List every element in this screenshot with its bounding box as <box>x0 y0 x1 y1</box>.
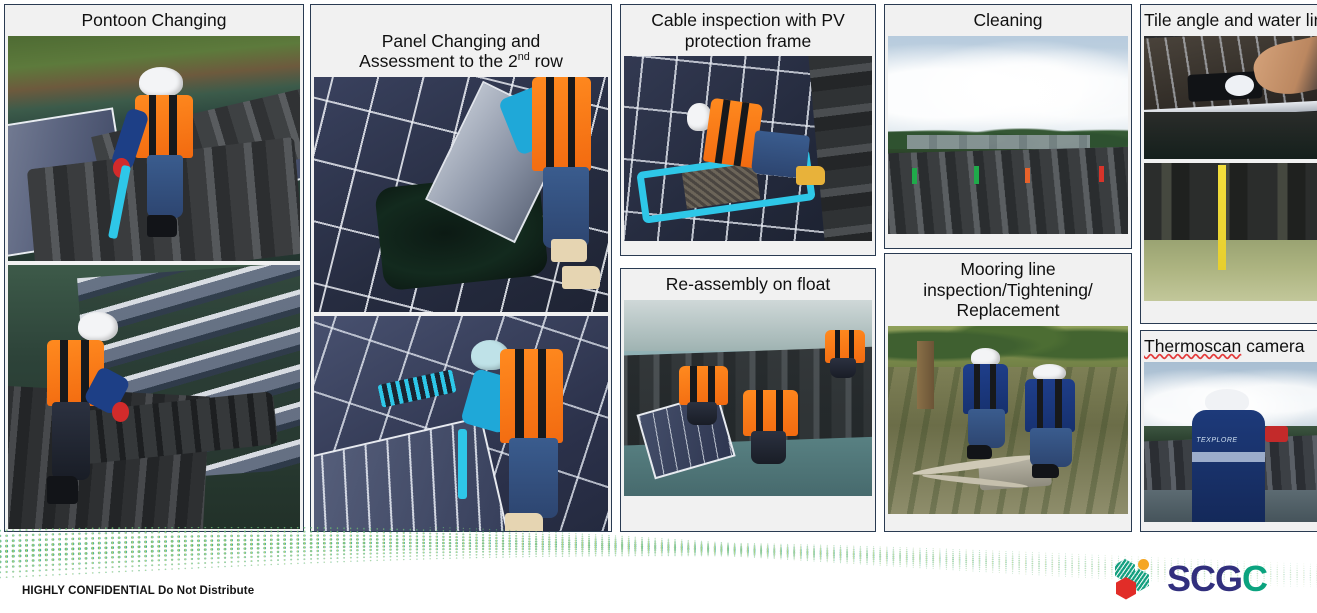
photo-pontoon-replace-float <box>8 36 300 261</box>
photo-stack-cable-inspection <box>621 56 875 245</box>
panel-title-panel-changing-post: row <box>530 51 563 71</box>
panel-title-re-assembly: Re-assembly on float <box>621 269 875 300</box>
panel-title-panel-changing: Panel Changing and Assessment to the 2nd… <box>311 5 611 77</box>
photo-panel-assessment <box>314 316 608 532</box>
panel-mooring-line[interactable]: Mooring line inspection/Tightening/ Repl… <box>884 253 1132 532</box>
photo-re-assembly-on-float <box>624 300 872 496</box>
spellchecked-word: Thermoscan <box>1144 336 1241 356</box>
panel-title-mooring-line: Mooring line inspection/Tightening/ Repl… <box>885 254 1131 326</box>
photo-pontoon-detach-float <box>8 265 300 529</box>
panel-title-panel-changing-pre: Panel Changing and Assessment to the 2 <box>359 31 540 72</box>
photo-waterline-tape-measure <box>1144 163 1317 301</box>
panel-title-thermoscan-camera: Thermoscan camera <box>1141 331 1317 362</box>
photo-panel-lifting <box>314 77 608 312</box>
slide-canvas: Pontoon Changing <box>0 0 1317 613</box>
panel-title-cable-inspection: Cable inspection with PV protection fram… <box>621 5 875 56</box>
photo-stack-thermoscan: TEXPLORE <box>1141 362 1317 526</box>
photo-cable-inspection <box>624 56 872 241</box>
panel-pontoon-changing[interactable]: Pontoon Changing <box>4 4 304 532</box>
scgc-hexagon-leaf-logo-icon <box>1114 558 1158 600</box>
confidential-notice: HIGHLY CONFIDENTIAL Do Not Distribute <box>22 585 254 597</box>
scgc-logo: SCGC <box>1114 558 1267 600</box>
photo-stack-panel-changing <box>311 77 611 532</box>
panel-cleaning[interactable]: Cleaning <box>884 4 1132 249</box>
panel-title-thermoscan-rest: camera <box>1246 336 1304 356</box>
panel-title-tilt-angle: Tile angle and water line measurement <box>1141 5 1317 36</box>
wordmark-c: C <box>1242 558 1267 599</box>
panel-re-assembly[interactable]: Re-assembly on float <box>620 268 876 532</box>
wordmark-scg: SCG <box>1167 558 1242 599</box>
panel-panel-changing[interactable]: Panel Changing and Assessment to the 2nd… <box>310 4 612 532</box>
panel-thermoscan-camera[interactable]: Thermoscan camera TEXPLORE <box>1140 330 1317 532</box>
photo-stack-re-assembly <box>621 300 875 500</box>
photo-stack-tilt-angle <box>1141 36 1317 305</box>
ordinal-suffix-nd: nd <box>518 51 530 63</box>
scgc-wordmark: SCGC <box>1167 561 1267 597</box>
panel-tilt-angle-water-line[interactable]: Tile angle and water line measurement <box>1140 4 1317 324</box>
panel-cable-inspection[interactable]: Cable inspection with PV protection fram… <box>620 4 876 256</box>
photo-stack-mooring-line <box>885 326 1131 518</box>
photo-stack-pontoon-changing <box>5 36 303 532</box>
photo-cleaning-wide-view <box>888 36 1128 234</box>
uniform-brand-label: TEXPLORE <box>1196 437 1237 444</box>
photo-mooring-line-inspection <box>888 326 1128 514</box>
photo-inclinometer-on-module <box>1144 36 1317 159</box>
panel-title-pontoon-changing: Pontoon Changing <box>5 5 303 36</box>
photo-stack-cleaning <box>885 36 1131 238</box>
panel-title-cleaning: Cleaning <box>885 5 1131 36</box>
photo-thermoscan-technician: TEXPLORE <box>1144 362 1317 522</box>
